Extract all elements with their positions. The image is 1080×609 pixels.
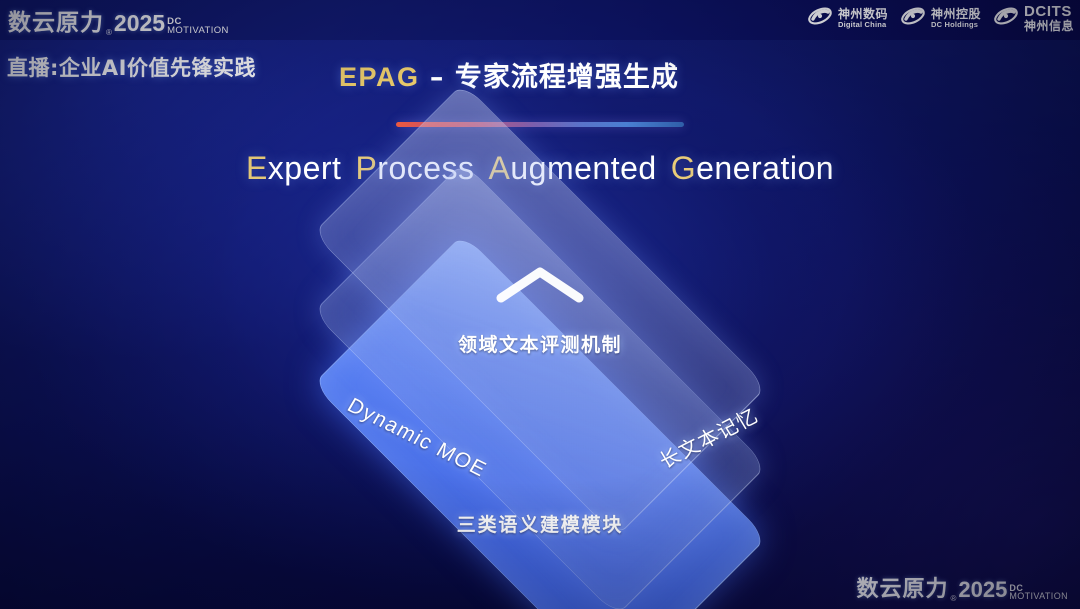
partner-logo-dc-holdings: 神州控股 DC Holdings [900, 5, 981, 32]
brand-dc-motivation: DC MOTIVATION [167, 17, 229, 37]
brand-dc-motivation: DC MOTIVATION [1009, 584, 1068, 603]
brand-year: 2025 [114, 10, 165, 37]
title-chinese: 专家流程增强生成 [455, 62, 679, 93]
partner-name-cn: 神州信息 [1024, 20, 1074, 33]
brand-logo-header: 数云原力 ® 2025 DC MOTIVATION [8, 3, 229, 37]
subtitle-word-generation: Generation [671, 150, 834, 186]
live-session-label: 直播:企业AI价值先锋实践 [7, 52, 256, 82]
brand-year: 2025 [958, 577, 1007, 603]
brand-registered-mark: ® [950, 594, 956, 603]
title-dash: – [420, 62, 455, 93]
partner-logo-group: 神州数码 Digital China 神州控股 DC Holdings [807, 4, 1074, 32]
brand-name-cn: 数云原力 [8, 3, 104, 37]
partner-name-cn: 神州控股 [931, 8, 981, 21]
partner-name-en: DC Holdings [931, 21, 981, 29]
partner-name-en: Digital China [838, 21, 888, 29]
partner-label: 神州数码 Digital China [838, 8, 888, 28]
page-title: EPAG – 专家流程增强生成 [339, 55, 679, 94]
swirl-icon [807, 5, 833, 32]
swirl-icon [900, 5, 926, 32]
brand-name-cn: 数云原力 [856, 571, 948, 603]
partner-name-en: DCITS [1024, 4, 1074, 20]
subtitle-word-expert: Expert [246, 150, 341, 186]
brand-motivation-text: MOTIVATION [1009, 592, 1068, 601]
subtitle-rest: xpert [268, 150, 342, 186]
subtitle-cap: E [246, 150, 268, 186]
title-acronym: EPAG [339, 62, 420, 92]
partner-name-cn: 神州数码 [838, 8, 888, 21]
slide-canvas: 数云原力 ® 2025 DC MOTIVATION 神州数码 [0, 0, 1080, 609]
partner-label: 神州信息 DCITS [1024, 4, 1074, 32]
subtitle-cap: G [671, 150, 696, 186]
layered-architecture-diagram: 领域文本评测机制 Dynamic MOE 长文本记忆 三类语义建模模块 [290, 222, 790, 582]
partner-logo-digital-china: 神州数码 Digital China [807, 5, 888, 32]
partner-logo-dcits: 神州信息 DCITS [993, 4, 1074, 32]
partner-label: 神州控股 DC Holdings [931, 8, 981, 28]
subtitle-rest: eneration [696, 150, 834, 186]
top-banner: 数云原力 ® 2025 DC MOTIVATION 神州数码 [0, 0, 1080, 40]
diagram-layer-bottom-label: 三类语义建模模块 [290, 510, 790, 537]
swirl-icon [993, 5, 1019, 32]
brand-motivation-text: MOTIVATION [167, 26, 229, 35]
brand-registered-mark: ® [106, 28, 112, 37]
diagram-layer-top-label: 领域文本评测机制 [290, 330, 790, 357]
brand-logo-footer: 数云原力 ® 2025 DC MOTIVATION [856, 571, 1068, 603]
